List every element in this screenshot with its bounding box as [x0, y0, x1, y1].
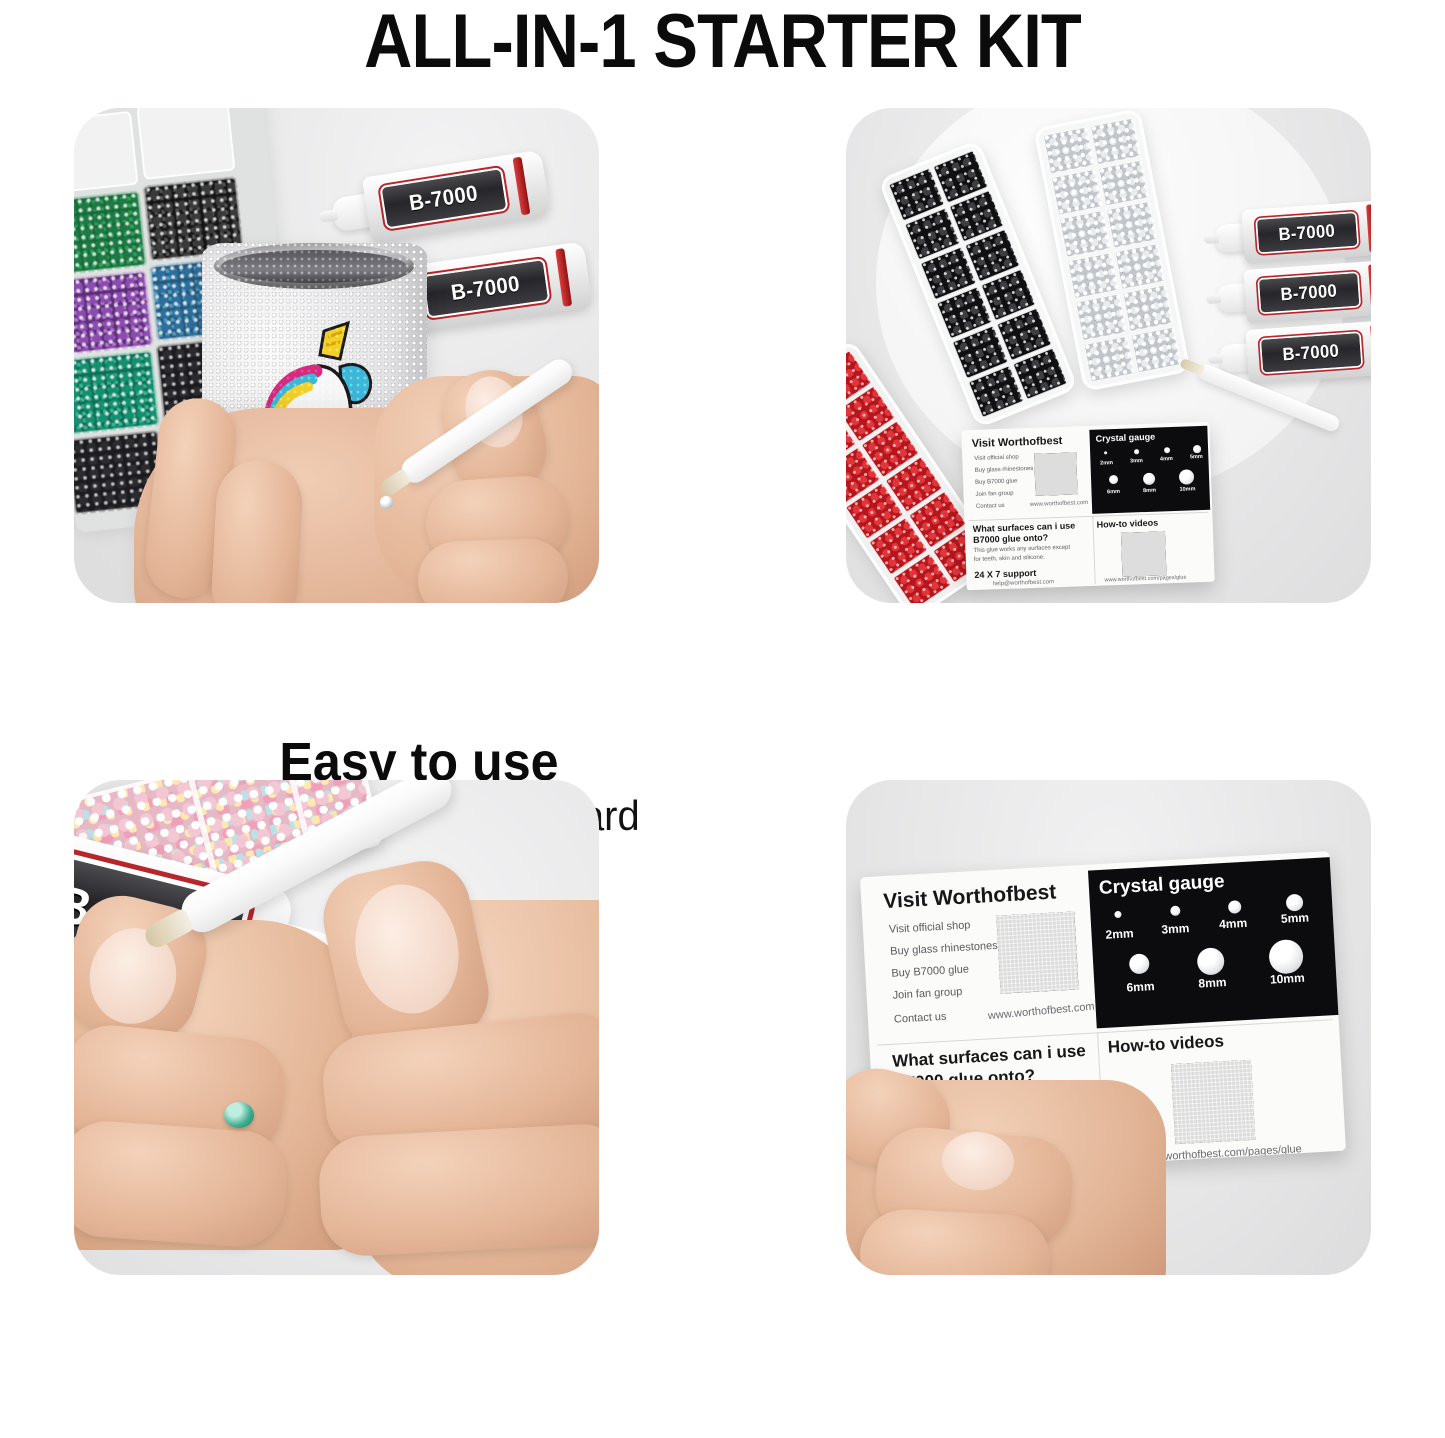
card-link: Join fan group	[892, 986, 962, 1002]
card-link: Buy B7000 glue	[891, 963, 969, 979]
qr-code-shop	[1034, 452, 1077, 495]
page-title: ALL-IN-1 STARTER KIT	[87, 2, 1359, 82]
rhinestone-on-picker-tip	[380, 496, 393, 509]
photo-precise-placement: B-7000	[74, 780, 599, 1275]
crystal-gauge-panel: Crystal gauge 2mm 3mm 4mm 5mm 6mm 8mm	[1088, 857, 1340, 1028]
glue-brand-label: B-7000	[1280, 280, 1338, 305]
photo-easy-to-use: B-7000 B-7000	[74, 108, 599, 603]
finger	[210, 458, 305, 603]
gauge-size-label: 2mm	[1094, 460, 1118, 467]
crystal-gauge-panel: Crystal gauge 2mm 3mm 4mm 5mm 6mm 8mm	[1089, 426, 1210, 514]
panel-user-friendly: Visit Worthofbest Visit official shop Bu…	[846, 780, 1371, 1275]
gauge-size-label: 6mm	[1118, 979, 1163, 995]
gauge-size-label: 6mm	[1101, 489, 1125, 496]
gauge-size-label: 3mm	[1124, 458, 1148, 465]
gauge-size-label: 8mm	[1190, 975, 1235, 991]
gauge-size-label: 2mm	[1097, 926, 1142, 942]
gauge-size-label: 10mm	[1260, 970, 1315, 987]
finger	[74, 1118, 290, 1249]
card-faq-title-2: B7000 glue onto?	[973, 532, 1048, 545]
infographic-root: ALL-IN-1 STARTER KIT B-7000	[0, 0, 1445, 1438]
qr-code-videos	[1171, 1060, 1255, 1144]
card-brand-url: www.worthofbest.com	[987, 1001, 1095, 1023]
instruction-card-small: Visit Worthofbest Visit official shop Bu…	[961, 422, 1214, 591]
card-link: Visit official shop	[889, 919, 971, 936]
gauge-title: Crystal gauge	[1095, 432, 1155, 444]
photo-user-friendly: Visit Worthofbest Visit official shop Bu…	[846, 780, 1371, 1275]
gauge-size-label: 8mm	[1137, 487, 1161, 494]
card-link: Contact us	[894, 1011, 947, 1026]
glue-tube-b7000-upper: B-7000	[328, 150, 551, 249]
glue-brand-label: B-7000	[408, 180, 480, 216]
gauge-size-label: 5mm	[1271, 910, 1320, 927]
glue-tube-b7000-1: B-7000	[1214, 200, 1371, 266]
card-videos-url: www.worthofbest.com/pages/glue	[1105, 575, 1187, 584]
panel-easy-to-use: B-7000 B-7000	[74, 108, 599, 603]
photo-full-kit: B-7000 B-7000 B-7000	[846, 108, 1371, 603]
card-brand-title: Visit Worthofbest	[883, 880, 1057, 914]
gauge-size-label: 4mm	[1154, 456, 1178, 463]
card-faq-title-1: What surfaces can i use	[892, 1041, 1087, 1072]
card-videos-title: How-to videos	[1107, 1031, 1224, 1057]
gauge-size-label: 5mm	[1184, 454, 1208, 461]
card-faq-body-2: for teeth, skin and silicone.	[974, 555, 1045, 563]
gauge-size-label: 4mm	[1211, 915, 1256, 931]
finger	[417, 537, 570, 603]
card-faq-title-1: What surfaces can i use	[973, 520, 1076, 534]
panel-full-kit: B-7000 B-7000 B-7000	[846, 108, 1371, 603]
card-link: Buy glass rhinestones	[975, 466, 1034, 474]
card-faq-body-1: This glue works any surfaces except	[973, 545, 1070, 554]
card-brand-title: Visit Worthofbest	[972, 435, 1063, 450]
card-link: Buy B7000 glue	[975, 478, 1018, 485]
card-link: Visit official shop	[974, 454, 1019, 462]
card-support-title: 24 X 7 support	[974, 568, 1036, 580]
finger	[317, 1122, 599, 1258]
card-link: Contact us	[976, 503, 1005, 510]
qr-code-shop	[996, 911, 1078, 993]
tumbler-rim	[214, 243, 414, 289]
glue-brand-label: B-7000	[1282, 340, 1340, 365]
card-link: Join fan group	[975, 491, 1013, 498]
glue-brand-label: B-7000	[1278, 220, 1336, 245]
panel-precise-placement: B-7000 Precise placement Extra-fine glue…	[74, 780, 599, 1275]
glue-tube-b7000-3: B-7000	[1218, 320, 1371, 386]
gauge-title: Crystal gauge	[1098, 871, 1225, 900]
card-videos-title: How-to videos	[1096, 518, 1158, 530]
card-link: Buy glass rhinestones	[890, 940, 998, 958]
glue-tube-b7000-2: B-7000	[1216, 260, 1371, 326]
glue-brand-label: B-7000	[450, 271, 522, 306]
gauge-size-label: 10mm	[1173, 486, 1201, 493]
gauge-size-label: 3mm	[1153, 921, 1198, 937]
card-brand-url: www.worthofbest.com	[1030, 500, 1089, 508]
card-support-email: help@worthofbest.com	[993, 579, 1055, 587]
green-rhinestone-on-tip	[224, 1102, 254, 1128]
qr-code-videos	[1121, 531, 1167, 577]
